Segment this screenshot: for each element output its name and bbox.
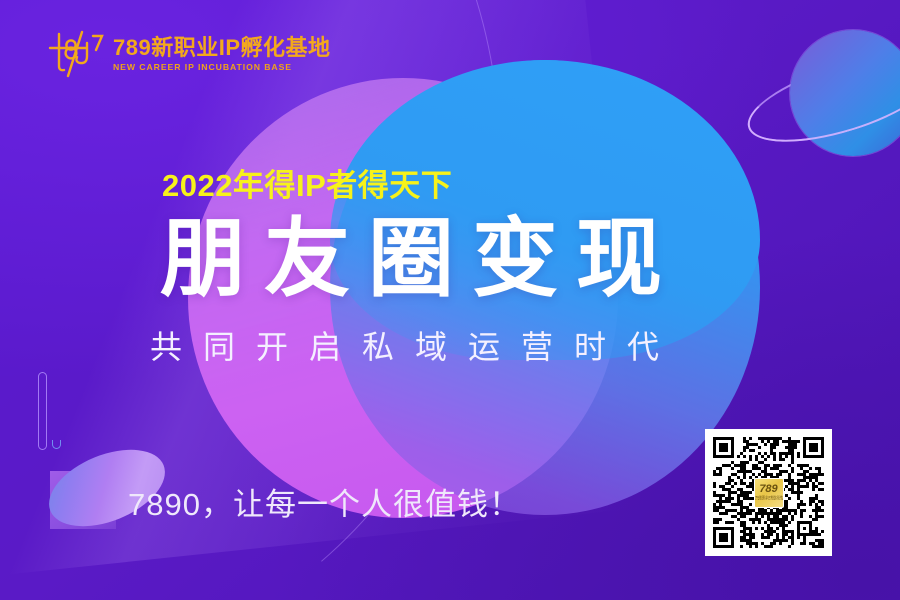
qr-code-card[interactable]: 789 789新职业IP孵化基地 NEW CAREER IP INCUBATIO… [705,429,832,556]
tagline-text: 7890，让每一个人很值钱！ [128,479,521,524]
small-u-shape-icon [52,440,61,449]
planet-ring-front [739,39,900,159]
subtitle-text: 共同开启私域运营时代 [150,322,680,368]
789-logo-mark-icon [46,26,106,82]
blob-blue-highlight [330,60,760,360]
planet-ring-back [739,39,900,159]
page-title: 朋友圈变现 [160,216,680,302]
planet-with-ring-icon [744,6,900,186]
kicker-text: 2022年得IP者得天下 [162,160,452,205]
qr-center-logo-mark: 789 [759,484,777,495]
brand-logo-text: 789新职业IP孵化基地 NEW CAREER IP INCUBATION BA… [113,37,331,72]
brand-logo: 789新职业IP孵化基地 NEW CAREER IP INCUBATION BA… [46,26,331,82]
brand-logo-cn: 789新职业IP孵化基地 [113,37,331,59]
qr-center-logo-en: NEW CAREER IP INCUBATION BASE [754,499,784,501]
vertical-bar-icon [38,372,47,450]
disc-square [50,471,116,529]
planet-body [790,30,900,156]
brand-logo-en: NEW CAREER IP INCUBATION BASE [113,63,335,72]
qr-code-canvas[interactable]: 789 789新职业IP孵化基地 NEW CAREER IP INCUBATIO… [713,437,824,548]
qr-center-logo: 789 789新职业IP孵化基地 NEW CAREER IP INCUBATIO… [754,478,784,508]
promo-poster: 789新职业IP孵化基地 NEW CAREER IP INCUBATION BA… [0,0,900,600]
